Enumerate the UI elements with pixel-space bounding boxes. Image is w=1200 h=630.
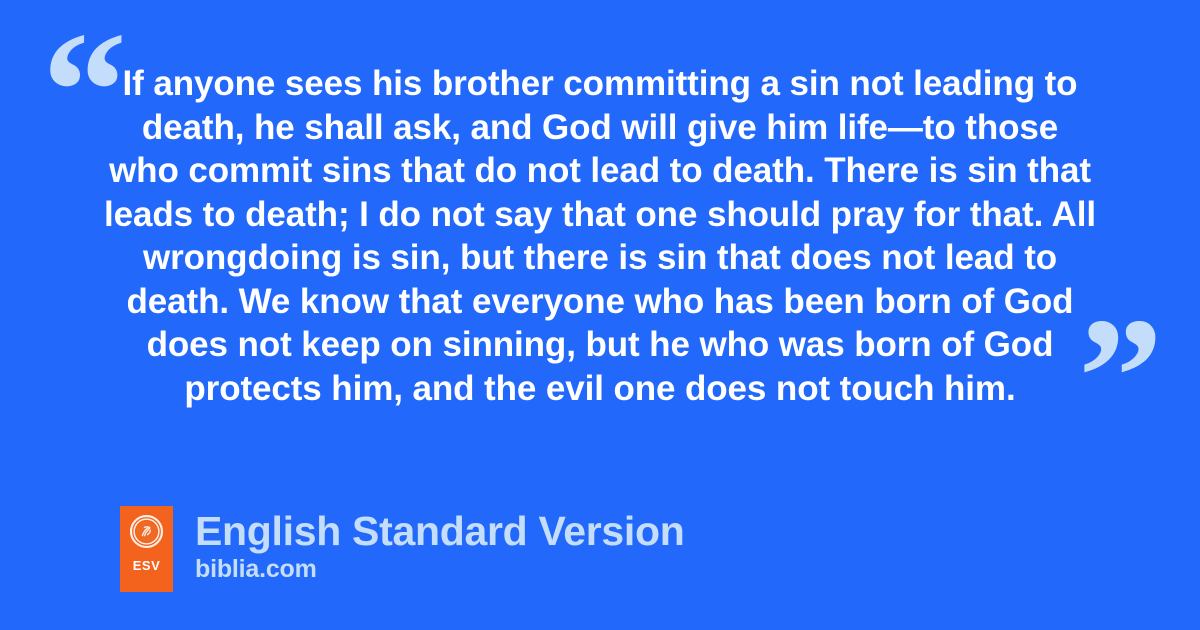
verse-card: “ ” If anyone sees his brother committin…	[0, 0, 1200, 630]
verse-text-block: If anyone sees his brother committing a …	[104, 62, 1096, 410]
attribution-text: English Standard Version biblia.com	[195, 506, 684, 584]
bible-version-title: English Standard Version	[195, 508, 684, 554]
attribution-footer: ESV English Standard Version biblia.com	[120, 506, 684, 592]
website-label: biblia.com	[195, 554, 684, 584]
esv-logo-label: ESV	[133, 559, 161, 572]
verse-text: If anyone sees his brother committing a …	[104, 62, 1096, 410]
esv-logo: ESV	[120, 506, 173, 592]
esv-seal-icon	[130, 515, 163, 548]
